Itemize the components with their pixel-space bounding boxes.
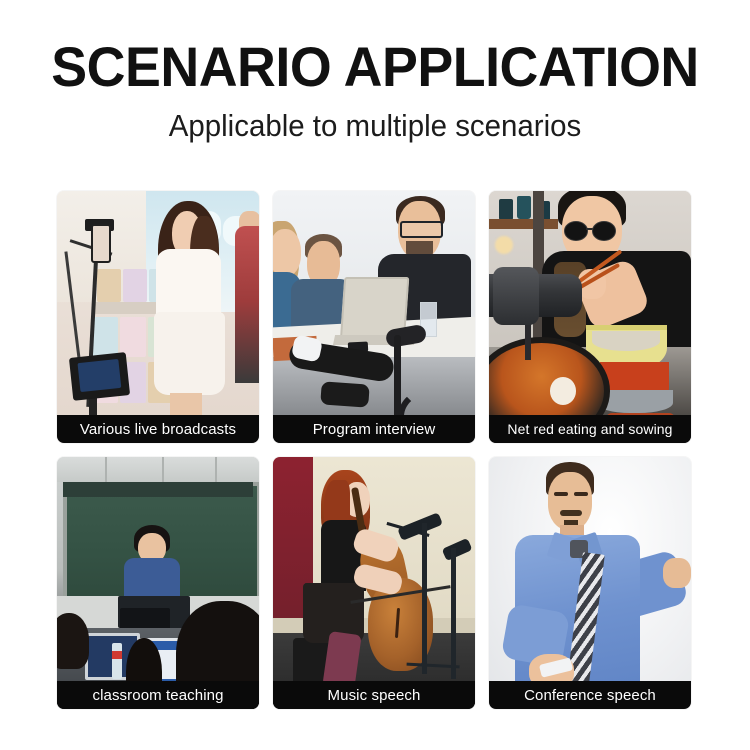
ceiling-grid-line [105,457,107,482]
product-box [123,269,147,302]
microphone-foot [321,381,371,407]
speaker-moustache [560,510,582,516]
tile-caption: Program interview [273,415,475,443]
preview-monitor [69,352,130,401]
product-box [120,317,146,357]
tile-caption: Conference speech [489,681,691,709]
product-box [91,317,117,357]
photo-conference-speech [489,457,691,709]
photo-music-speech [273,457,475,709]
ceiling-grid-line [162,457,164,482]
sunglasses-lens [564,221,588,241]
water-bottle [112,643,122,678]
scenario-application-page: SCENARIO APPLICATION Applicable to multi… [0,0,750,750]
assistant-body [235,226,259,382]
boiled-egg [550,377,576,405]
product-box [97,269,121,302]
scenario-tile-music-speech[interactable]: Music speech [273,457,475,709]
photo-various-live-broadcasts [57,191,259,443]
host-dress-top [156,249,221,320]
speaker-right-hand [663,558,691,588]
tile-caption: Music speech [273,681,475,709]
tile-caption: Net red eating and sowing [489,415,691,443]
scenario-tile-conference-speech[interactable]: Conference speech [489,457,691,709]
eyeglasses [400,221,442,238]
shelf-bottle [517,196,531,219]
page-subtitle: Applicable to multiple scenarios [19,109,732,143]
speaker-eyebrow [574,492,588,496]
wall-shelf [489,219,558,229]
streaming-phone [91,224,111,263]
microphone-cap [493,267,539,325]
speaker-eyebrow [554,492,568,496]
scenario-tile-program-interview[interactable]: Program interview [273,191,475,443]
tile-caption: classroom teaching [57,681,259,709]
sunglasses-icon [564,221,617,239]
ceiling-grid-line [215,457,217,482]
scenario-tile-various-live-broadcasts[interactable]: Various live broadcasts [57,191,259,443]
woman-head [273,229,301,277]
photo-program-interview [273,191,475,443]
photo-net-red-eating-and-sowing [489,191,691,443]
scenario-tile-net-red-eating-and-sowing[interactable]: Net red eating and sowing [489,191,691,443]
student-head [57,613,89,668]
host-dress-skirt [154,312,225,395]
photo-classroom-teaching [57,457,259,709]
tile-caption: Various live broadcasts [57,415,259,443]
sunglasses-lens [592,221,616,241]
scenario-tile-classroom-teaching[interactable]: classroom teaching [57,457,259,709]
chalkboard-top-rail [63,482,253,497]
page-header: SCENARIO APPLICATION Applicable to multi… [0,0,750,143]
scenario-grid: Various live broadcasts [57,191,693,709]
microphone-stand [422,523,427,674]
microphone-stand [451,548,456,679]
ceiling [57,457,259,482]
page-title: SCENARIO APPLICATION [15,38,735,95]
